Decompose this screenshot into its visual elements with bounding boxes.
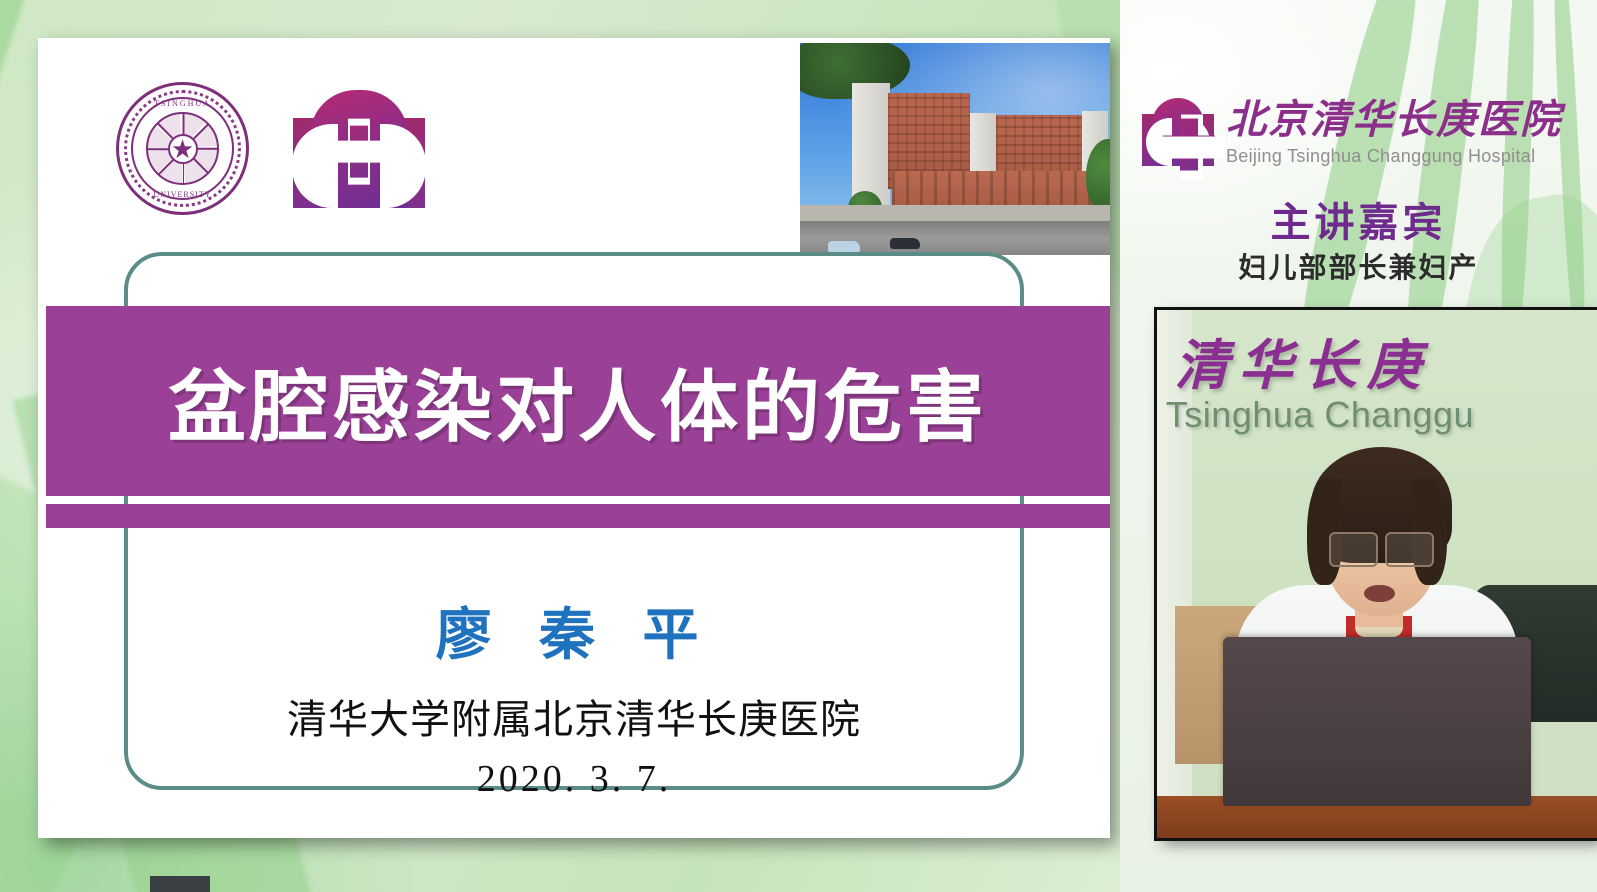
- slide-logo-row: ★ TSINGHUA UNIVERSITY: [116, 82, 425, 215]
- page-title: 盆腔感染对人体的危害: [168, 345, 988, 457]
- hospital-wordmark: 北京清华长庚医院 Beijing Tsinghua Changgung Hosp…: [1120, 98, 1597, 166]
- bottom-left-control-chip[interactable]: [150, 876, 210, 892]
- video-person-mouth: [1364, 585, 1395, 603]
- medical-cross-icon: [1159, 115, 1197, 153]
- hospital-name-en: Beijing Tsinghua Changgung Hospital: [1226, 147, 1562, 165]
- video-laptop: [1223, 637, 1531, 806]
- presenter-name: 廖 秦 平: [128, 590, 1020, 671]
- photo-tower-left: [852, 83, 890, 205]
- seal-hub: ★: [168, 134, 198, 164]
- seal-top-text: TSINGHUA: [119, 99, 246, 108]
- presenter-video-feed[interactable]: 清华长庚 Tsinghua Changgu: [1157, 310, 1597, 838]
- hospital-name-cn: 北京清华长庚医院: [1226, 100, 1562, 140]
- video-backdrop-text-en: Tsinghua Changgu: [1166, 394, 1474, 436]
- star-icon: ★: [171, 136, 194, 162]
- hospital-building-photo: [800, 43, 1110, 255]
- speaker-role-title: 主讲嘉宾: [1120, 190, 1597, 248]
- slide-title-band: 盆腔感染对人体的危害: [46, 306, 1110, 496]
- speaker-role-subtitle: 妇儿部部长兼妇产: [1120, 246, 1597, 286]
- hospital-gate-cross-icon: [293, 90, 425, 208]
- photo-car-dark: [890, 238, 920, 249]
- presenter-info-block: 廖 秦 平 清华大学附属北京清华长庚医院 2020. 3. 7.: [128, 590, 1020, 801]
- slide-title-accent-strip: [46, 504, 1110, 528]
- presentation-slide[interactable]: ★ TSINGHUA UNIVERSITY: [38, 38, 1110, 838]
- hospital-gate-cross-icon: [1142, 98, 1214, 166]
- medical-cross-inner: [333, 125, 385, 177]
- video-backdrop-text-cn: 清华长庚: [1175, 321, 1431, 400]
- tsinghua-university-seal-icon: ★ TSINGHUA UNIVERSITY: [116, 82, 249, 215]
- hospital-name-text: 北京清华长庚医院 Beijing Tsinghua Changgung Hosp…: [1226, 100, 1562, 165]
- presenter-affiliation: 清华大学附属北京清华长庚医院: [128, 687, 1020, 745]
- right-info-panel: 北京清华长庚医院 Beijing Tsinghua Changgung Hosp…: [1120, 0, 1597, 892]
- presentation-date: 2020. 3. 7.: [128, 757, 1020, 801]
- video-person-glasses: [1329, 532, 1435, 564]
- seal-bottom-text: UNIVERSITY: [119, 190, 246, 199]
- medical-cross-icon: [326, 118, 392, 184]
- screen-stage: ★ TSINGHUA UNIVERSITY: [0, 0, 1597, 892]
- medical-cross-inner: [1163, 119, 1193, 149]
